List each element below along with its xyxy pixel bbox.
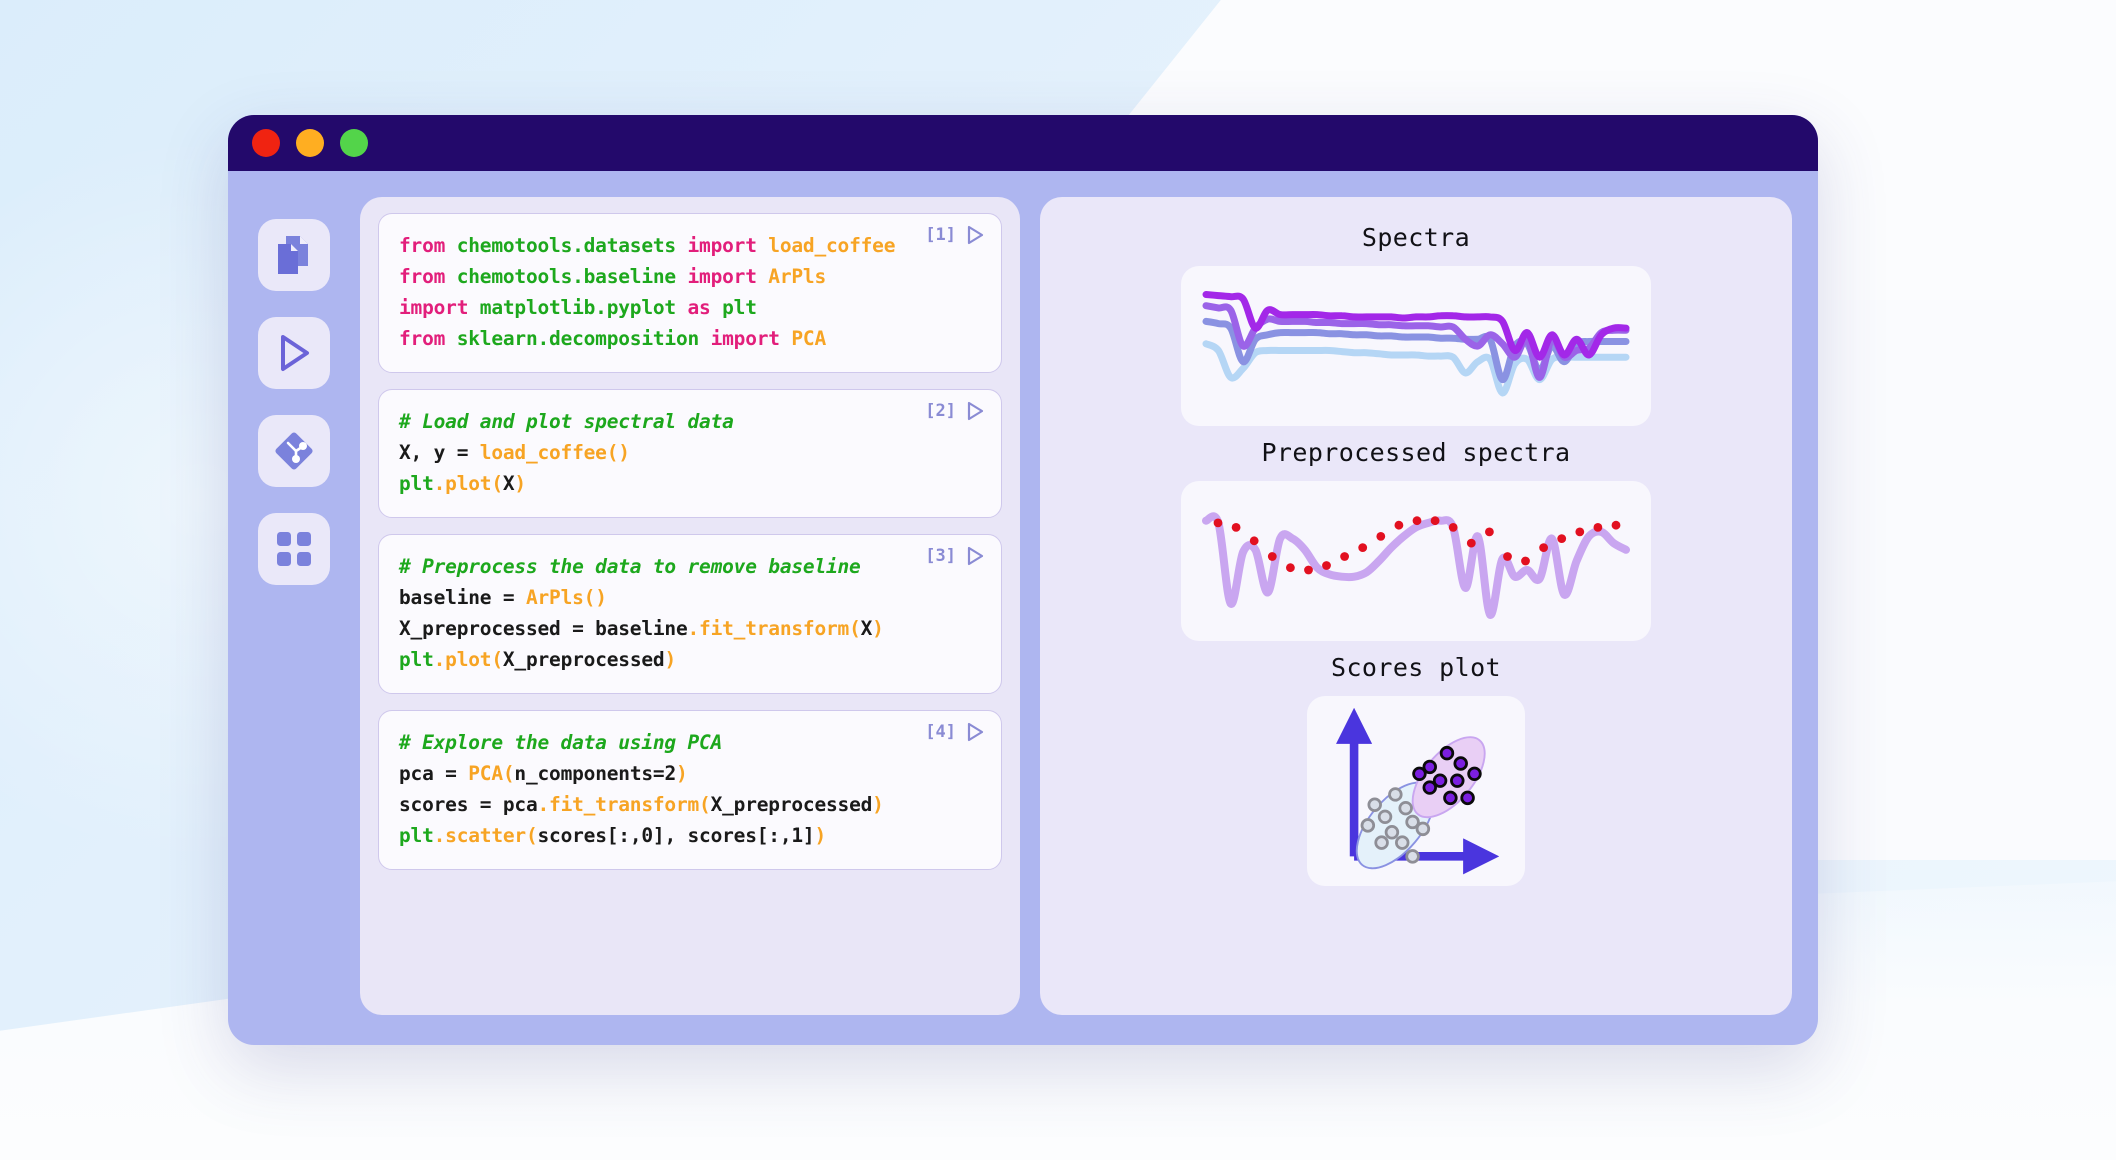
code-line: plt.plot(X_preprocessed) [399, 644, 981, 675]
code-token: .plot [434, 472, 492, 495]
files-icon [274, 234, 314, 276]
maximize-button[interactable] [340, 129, 368, 157]
close-button[interactable] [252, 129, 280, 157]
cell-meta: [2] [925, 400, 985, 422]
code-line: pca = PCA(n_components=2) [399, 758, 981, 789]
cluster-a-point [1369, 799, 1381, 811]
code-token: X_preprocessed [711, 793, 873, 816]
code-line: from chemotools.baseline import ArPls [399, 261, 981, 292]
code-token: PCA [468, 762, 503, 785]
baseline-point [1340, 552, 1349, 561]
scores-chart [1318, 705, 1514, 877]
sidebar-item-run[interactable] [258, 317, 330, 389]
baseline-point [1268, 552, 1277, 561]
cluster-b-point [1469, 768, 1481, 780]
code-token: ArPls() [526, 586, 607, 609]
code-token: from [399, 327, 457, 350]
code-line: # Load and plot spectral data [399, 406, 981, 437]
code-token: ) [872, 617, 884, 640]
run-cell-icon[interactable] [965, 400, 985, 422]
cluster-a-point [1417, 823, 1429, 835]
code-token: # Preprocess the data to remove baseline [399, 555, 861, 578]
git-branch-icon [272, 429, 316, 473]
code-token: from [399, 265, 457, 288]
baseline-point [1376, 532, 1385, 541]
notebook-cell[interactable]: [3]# Preprocess the data to remove basel… [378, 534, 1002, 694]
app-window: [1]from chemotools.datasets import load_… [228, 115, 1818, 1045]
code-token: import [399, 296, 480, 319]
cluster-b-point [1441, 747, 1453, 759]
baseline-point [1214, 519, 1223, 528]
spectra-plot-card[interactable] [1181, 266, 1651, 426]
code-token: from [399, 234, 457, 257]
code-token: load_coffee() [480, 441, 630, 464]
baseline-point [1431, 516, 1440, 525]
baseline-point [1395, 521, 1404, 530]
code-token: ( [503, 762, 515, 785]
code-line: baseline = ArPls() [399, 582, 981, 613]
code-line: plt.scatter(scores[:,0], scores[:,1]) [399, 820, 981, 851]
code-token: .fit_transform [688, 617, 850, 640]
run-cell-icon[interactable] [965, 224, 985, 246]
baseline-point [1322, 561, 1331, 570]
code-token: ) [814, 824, 826, 847]
code-token: .scatter [434, 824, 526, 847]
code-token: ) [664, 648, 676, 671]
baseline-point [1539, 543, 1548, 552]
code-token: chemotools.datasets [457, 234, 688, 257]
code-token: ( [526, 824, 538, 847]
code-token: chemotools.baseline [457, 265, 688, 288]
code-token: X [861, 617, 873, 640]
code-token: baseline = [399, 586, 526, 609]
code-token: X_preprocessed [503, 648, 665, 671]
window-titlebar [228, 115, 1818, 171]
cell-meta: [1] [925, 224, 985, 246]
cluster-b-point [1462, 792, 1474, 804]
execution-count: [1] [925, 225, 956, 245]
preprocessed-chart [1192, 491, 1640, 631]
code-line: from sklearn.decomposition import PCA [399, 323, 981, 354]
baseline-point [1485, 528, 1494, 537]
baseline-point [1232, 523, 1241, 532]
sidebar-item-source-control[interactable] [258, 415, 330, 487]
play-icon [276, 333, 312, 373]
code-token: # Explore the data using PCA [399, 731, 722, 754]
code-token: n_components=2 [514, 762, 676, 785]
baseline-point [1449, 523, 1458, 532]
cluster-a-point [1390, 789, 1402, 801]
code-token: .plot [434, 648, 492, 671]
baseline-point [1250, 536, 1259, 545]
minimize-button[interactable] [296, 129, 324, 157]
code-token: ( [491, 648, 503, 671]
notebook-cell[interactable]: [2]# Load and plot spectral dataX, y = l… [378, 389, 1002, 518]
code-token: plt [399, 648, 434, 671]
output-plots-panel: Spectra Preprocessed spectra Scores plot [1040, 197, 1792, 1015]
cluster-a-point [1400, 802, 1412, 814]
code-token: plt [722, 296, 757, 319]
scores-plot-card[interactable] [1307, 696, 1525, 886]
cluster-a-point [1396, 837, 1408, 849]
code-token: X_preprocessed = baseline [399, 617, 688, 640]
code-token: sklearn.decomposition [457, 327, 711, 350]
code-token: import [688, 265, 769, 288]
code-token: scores = pca [399, 793, 537, 816]
code-token: ) [514, 472, 526, 495]
cluster-a-point [1386, 826, 1398, 838]
window-body: [1]from chemotools.datasets import load_… [228, 171, 1818, 1045]
execution-count: [3] [925, 546, 956, 566]
code-token: plt [399, 472, 434, 495]
cluster-a-point [1379, 811, 1391, 823]
code-token: as [688, 296, 723, 319]
code-token: load_coffee [768, 234, 895, 257]
code-line: scores = pca.fit_transform(X_preprocesse… [399, 789, 981, 820]
sidebar-item-files[interactable] [258, 219, 330, 291]
code-token: ( [699, 793, 711, 816]
cluster-b-point [1414, 768, 1426, 780]
cluster-b-point [1424, 782, 1436, 794]
cluster-a-point [1362, 820, 1374, 832]
code-token: PCA [791, 327, 826, 350]
execution-count: [4] [925, 722, 956, 742]
code-token: X [503, 472, 515, 495]
baseline-point [1286, 563, 1295, 572]
baseline-point [1594, 523, 1603, 532]
baseline-point [1358, 543, 1367, 552]
cluster-a-point [1376, 837, 1388, 849]
sidebar-item-extensions[interactable] [258, 513, 330, 585]
baseline-point [1557, 534, 1566, 543]
code-line: plt.plot(X) [399, 468, 981, 499]
cluster-b-point [1455, 758, 1467, 770]
notebook-cell[interactable]: [4]# Explore the data using PCApca = PCA… [378, 710, 1002, 870]
execution-count: [2] [925, 401, 956, 421]
cell-meta: [3] [925, 545, 985, 567]
grid-icon [275, 530, 313, 568]
run-cell-icon[interactable] [965, 721, 985, 743]
code-line: import matplotlib.pyplot as plt [399, 292, 981, 323]
code-token: import [688, 234, 769, 257]
baseline-point [1467, 539, 1476, 548]
spectra-plot-title: Spectra [1362, 223, 1470, 252]
baseline-point [1521, 557, 1530, 566]
preprocessed-plot-card[interactable] [1181, 481, 1651, 641]
preprocessed-line [1206, 516, 1626, 615]
code-token: ArPls [768, 265, 826, 288]
run-cell-icon[interactable] [965, 545, 985, 567]
code-token: ( [849, 617, 861, 640]
notebook-code-panel: [1]from chemotools.datasets import load_… [360, 197, 1020, 1015]
cluster-b-point [1445, 792, 1457, 804]
code-token: plt [399, 824, 434, 847]
code-token: matplotlib.pyplot [480, 296, 688, 319]
cluster-b-point [1451, 775, 1463, 787]
baseline-point [1503, 552, 1512, 561]
code-line: # Preprocess the data to remove baseline [399, 551, 981, 582]
spectra-chart [1192, 276, 1640, 416]
code-token: X, y = [399, 441, 480, 464]
code-token: scores[:,0], scores[:,1] [538, 824, 815, 847]
baseline-point [1304, 566, 1313, 575]
code-token: ) [676, 762, 688, 785]
code-token: # Load and plot spectral data [399, 410, 734, 433]
code-token: pca = [399, 762, 468, 785]
code-line: # Explore the data using PCA [399, 727, 981, 758]
scores-plot-title: Scores plot [1331, 653, 1501, 682]
code-line: X, y = load_coffee() [399, 437, 981, 468]
code-token: ) [872, 793, 884, 816]
cluster-a-point [1407, 851, 1419, 863]
preprocessed-plot-title: Preprocessed spectra [1261, 438, 1570, 467]
code-line: from chemotools.datasets import load_cof… [399, 230, 981, 261]
baseline-point [1612, 521, 1621, 530]
sidebar [248, 197, 340, 1015]
cell-meta: [4] [925, 721, 985, 743]
baseline-point [1575, 528, 1584, 537]
baseline-point [1413, 516, 1422, 525]
code-token: import [711, 327, 792, 350]
code-token: .fit_transform [537, 793, 699, 816]
code-line: X_preprocessed = baseline.fit_transform(… [399, 613, 981, 644]
code-token: ( [491, 472, 503, 495]
notebook-cell[interactable]: [1]from chemotools.datasets import load_… [378, 213, 1002, 373]
